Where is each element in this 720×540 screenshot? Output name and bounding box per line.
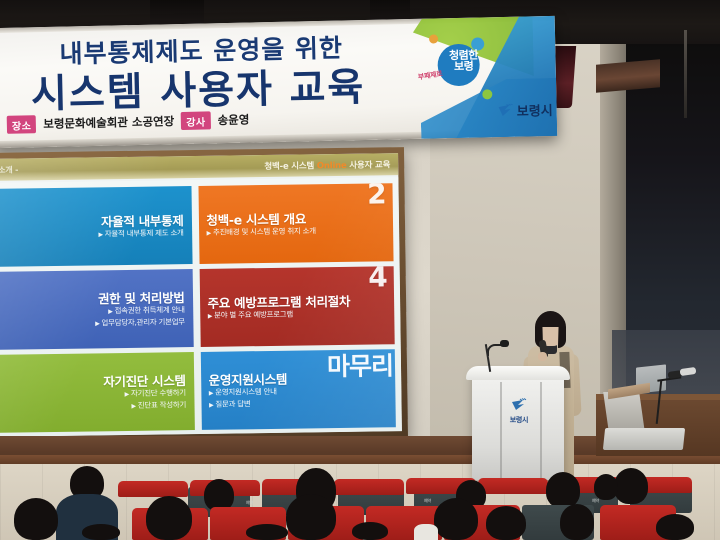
slide-tile-number: 4 [368, 266, 388, 290]
banner-graphic-panel: 청렴한 보령 부패제로 [405, 16, 558, 139]
slide-tile-bullet: ▶질문과 답변 [209, 397, 388, 411]
banner-city-name: 보령시 [517, 100, 553, 120]
audience-shoulders [414, 524, 438, 540]
projection-screen-frame: 소개 - 청백-e 시스템 Online 사용자 교육 자율적 내부통제 ▶자율… [0, 147, 408, 443]
seat [118, 481, 188, 497]
slide-tile-2: 2 청백-e 시스템 개요 ▶추진배경 및 시스템 운영 취지 소개 [198, 183, 394, 264]
audience-head [146, 496, 192, 540]
bullet-marker-icon: ▶ [108, 308, 112, 315]
audience-head [14, 498, 58, 540]
banner-city-logo: 보령시 [498, 100, 553, 120]
audience-head [656, 514, 694, 540]
bullet-marker-icon: ▶ [131, 402, 135, 409]
bullet-marker-icon: ▶ [209, 390, 213, 397]
slide-tile-1: 자율적 내부통제 ▶자율적 내부통제 제도 소개 [0, 186, 192, 267]
audience-head [486, 506, 526, 540]
banner-emblem-script: 부패제로 [417, 69, 443, 83]
audience-head [82, 524, 120, 540]
bullet-marker-icon: ▶ [98, 231, 102, 238]
slide-tile-5: 자기진단 시스템 ▶자기진단 수행하기 ▶진단표 작성하기 [0, 352, 194, 433]
slide-tile-word: 마무리 [327, 353, 393, 379]
slide-tile-row: 자율적 내부통제 ▶자율적 내부통제 제도 소개 2 청백-e 시스템 개요 ▶… [0, 183, 394, 267]
audience-head [594, 474, 618, 500]
ceiling-trim-beam [596, 59, 660, 93]
slide-header-left-text: 소개 - [0, 164, 18, 175]
podium-city-name: 보령시 [498, 415, 540, 425]
speaker-hand [538, 352, 547, 361]
banner-place-tag: 장소 [7, 115, 37, 134]
audience-head [560, 504, 594, 540]
audience-head [286, 494, 336, 540]
bullet-marker-icon: ▶ [95, 320, 99, 327]
slide-tile-6: 마무리 운영지원시스템 ▶운영지원시스템 안내 ▶질문과 답변 [200, 349, 396, 430]
slide-tile-bullet: ▶자율적 내부통제 제도 소개 [5, 228, 184, 242]
slide-tile-bullet-text: 질문과 답변 [215, 399, 250, 408]
slide-header-suffix: 사용자 교육 [347, 160, 391, 171]
bullet-marker-icon: ▶ [209, 401, 213, 408]
audience-head [614, 468, 648, 504]
seat [478, 478, 548, 494]
slide-tile-bullet: ▶추진배경 및 시스템 운영 취지 소개 [207, 225, 386, 239]
seat-label: 예약 [592, 498, 599, 504]
slide-tile-bullet-text: 진단표 작성하기 [138, 400, 186, 410]
slide-tile-bullet: ▶분야 별 주요 예방프로그램 [208, 308, 387, 322]
slide-tile-bullet: ▶업무담당자,관리자 기본업무 [6, 317, 185, 331]
slide-tile-row: 자기진단 시스템 ▶자기진단 수행하기 ▶진단표 작성하기 마무리 운영지원시스… [0, 349, 396, 433]
podium-city-logo: 보령시 [498, 396, 540, 425]
audience-head [352, 522, 388, 540]
podium-top-surface [466, 366, 570, 380]
slide-header-prefix: 청백-e 시스템 [264, 161, 317, 172]
audience-head [546, 472, 580, 508]
slide-tile-bullet: ▶진단표 작성하기 [7, 400, 186, 414]
podium-edge-line [540, 382, 542, 478]
slide-tile-number: 2 [367, 183, 387, 207]
slide-tile-bullet-text: 분야 별 주요 예방프로그램 [214, 309, 293, 319]
banner-orange-dot [429, 34, 438, 43]
slide-body: 자율적 내부통제 ▶자율적 내부통제 제도 소개 2 청백-e 시스템 개요 ▶… [0, 177, 402, 437]
bullet-marker-icon: ▶ [125, 391, 129, 398]
slide-tile-bullet-text: 운영지원시스템 안내 [215, 387, 277, 397]
seat [334, 479, 404, 495]
bullet-marker-icon: ▶ [208, 313, 212, 320]
slide-tile-bullet-text: 자기진단 수행하기 [131, 388, 186, 398]
slide-tile-bullet-text: 추진배경 및 시스템 운영 취지 소개 [213, 226, 316, 236]
slide-tile-3: 권한 및 처리방법 ▶접속권한 취득체계 안내 ▶업무담당자,관리자 기본업무 [0, 269, 193, 350]
podium-mic-head [500, 340, 509, 347]
audience-head [246, 524, 288, 540]
slide-tile-bullet-text: 업무담당자,관리자 기본업무 [101, 317, 184, 327]
hanging-rod [684, 30, 687, 118]
slide-tile-row: 권한 및 처리방법 ▶접속권한 취득체계 안내 ▶업무담당자,관리자 기본업무 … [0, 266, 395, 350]
banner-emblem-text: 청렴한 보령 [439, 49, 487, 72]
boryeong-bird-icon [511, 398, 528, 411]
event-banner: 청렴한 보령 부패제로 내부통제제도 운영을 위한 시스템 사용자 교육 00 … [0, 16, 557, 148]
slide-tile-4: 4 주요 예방프로그램 처리절차 ▶분야 별 주요 예방프로그램 [199, 266, 395, 347]
projection-screen: 소개 - 청백-e 시스템 Online 사용자 교육 자율적 내부통제 ▶자율… [0, 153, 402, 437]
audience-head [434, 498, 478, 540]
banner-emblem-sub: 보령 [440, 60, 488, 72]
bullet-marker-icon: ▶ [207, 230, 211, 237]
auditorium-photo-scene: 청렴한 보령 부패제로 내부통제제도 운영을 위한 시스템 사용자 교육 00 … [0, 0, 720, 540]
seat-label: 예약 [246, 500, 253, 506]
banner-lecturer-tag: 강사 [181, 111, 211, 130]
podium [472, 370, 564, 480]
slide-tile-bullet-text: 자율적 내부통제 제도 소개 [105, 228, 184, 238]
slide-header-online: Online [317, 161, 347, 171]
banner-place-value: 보령문화예술회관 소공연장 [43, 113, 174, 132]
seat-label: 예약 [424, 498, 431, 504]
boryeong-bird-icon [498, 104, 514, 117]
banner-lecturer-value: 송윤영 [217, 112, 249, 129]
equipment-tray [603, 428, 685, 450]
slide-header-bar: 소개 - 청백-e 시스템 Online 사용자 교육 [0, 153, 398, 181]
slide-tile-bullet-text: 접속권한 취득체계 안내 [114, 305, 184, 315]
slide-header-right-text: 청백-e 시스템 Online 사용자 교육 [264, 158, 390, 172]
